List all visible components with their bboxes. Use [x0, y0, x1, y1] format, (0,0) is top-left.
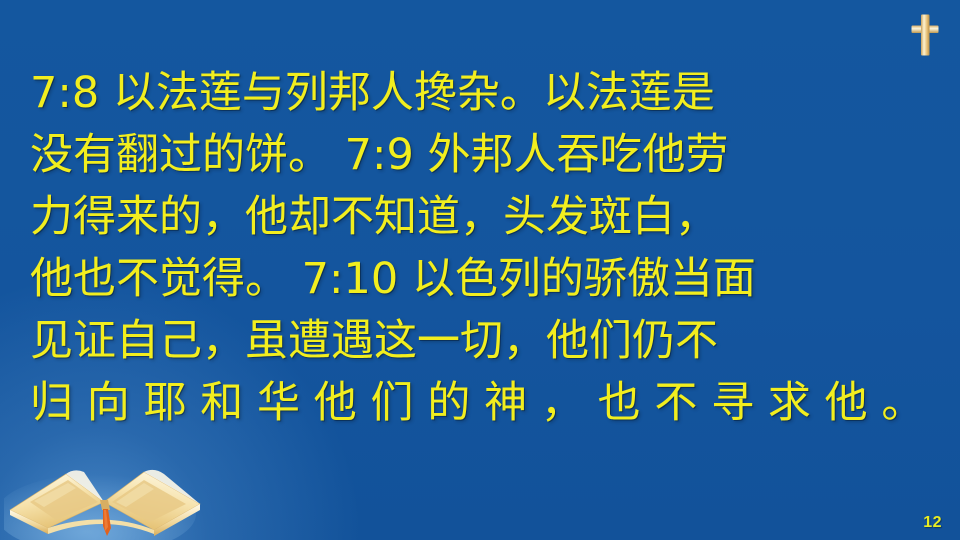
scripture-line: 见证自己，虽遭遇这一切，他们仍不 [30, 310, 942, 372]
scripture-line: 归向耶和华他们的神，也不寻求他。 [30, 372, 942, 434]
presentation-slide: 7:8 以法莲与列邦人搀杂。以法莲是 没有翻过的饼。 7:9 外邦人吞吃他劳 力… [0, 0, 960, 540]
scripture-line: 力得来的，他却不知道，头发斑白， [30, 186, 942, 248]
scripture-line: 7:8 以法莲与列邦人搀杂。以法莲是 [30, 62, 942, 124]
open-book-icon [4, 452, 204, 540]
scripture-text-block: 7:8 以法莲与列邦人搀杂。以法莲是 没有翻过的饼。 7:9 外邦人吞吃他劳 力… [30, 62, 942, 434]
scripture-line-text: 见证自己，虽遭遇这一切，他们仍不 [30, 310, 718, 372]
scripture-line: 没有翻过的饼。 7:9 外邦人吞吃他劳 [30, 124, 942, 186]
scripture-line-text: 7:8 以法莲与列邦人搀杂。以法莲是 [30, 62, 715, 124]
scripture-line-text: 归向耶和华他们的神，也不寻求他。 [30, 372, 938, 434]
scripture-line-text: 力得来的，他却不知道，头发斑白， [30, 186, 718, 248]
page-number: 12 [923, 514, 942, 532]
scripture-line-text: 他也不觉得。 7:10 以色列的骄傲当面 [30, 248, 756, 310]
scripture-line: 他也不觉得。 7:10 以色列的骄傲当面 [30, 248, 942, 310]
scripture-line-text: 没有翻过的饼。 7:9 外邦人吞吃他劳 [30, 124, 729, 186]
cross-icon [906, 12, 944, 58]
